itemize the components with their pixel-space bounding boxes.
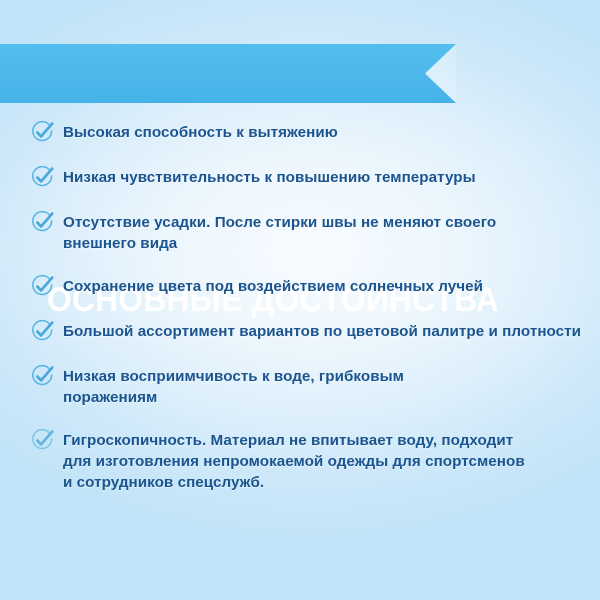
list-item: Низкая восприимчивость к воде, грибковым… <box>30 364 582 408</box>
list-item: Большой ассортимент вариантов по цветово… <box>30 319 582 344</box>
ribbon-notch-icon <box>425 44 456 103</box>
check-circle-icon <box>30 274 55 299</box>
list-item-label: Низкая чувствительность к повышению темп… <box>63 165 476 188</box>
list-item: Отсутствие усадки. После стирки швы не м… <box>30 210 582 254</box>
list-item-label: Низкая восприимчивость к воде, грибковым… <box>63 364 404 408</box>
benefits-poster: ОСНОВНЫЕ ДОСТОИНСТВА Высокая способность… <box>0 0 600 600</box>
list-item-label: Большой ассортимент вариантов по цветово… <box>63 319 581 342</box>
check-circle-icon <box>30 165 55 190</box>
check-circle-icon <box>30 428 55 453</box>
check-circle-icon <box>30 319 55 344</box>
check-circle-icon <box>30 210 55 235</box>
header-ribbon <box>0 44 456 103</box>
check-circle-icon <box>30 364 55 389</box>
list-item-label: Гигроскопичность. Материал не впитывает … <box>63 428 525 493</box>
list-item: Сохранение цвета под воздействием солнеч… <box>30 274 582 299</box>
list-item-label: Сохранение цвета под воздействием солнеч… <box>63 274 483 297</box>
check-circle-icon <box>30 120 55 145</box>
list-item-label: Отсутствие усадки. После стирки швы не м… <box>63 210 496 254</box>
list-item-label: Высокая способность к вытяжению <box>63 120 338 143</box>
list-item: Высокая способность к вытяжению <box>30 120 582 145</box>
benefits-list: Высокая способность к вытяжению Низкая ч… <box>30 120 582 493</box>
list-item: Гигроскопичность. Материал не впитывает … <box>30 428 582 493</box>
list-item: Низкая чувствительность к повышению темп… <box>30 165 582 190</box>
